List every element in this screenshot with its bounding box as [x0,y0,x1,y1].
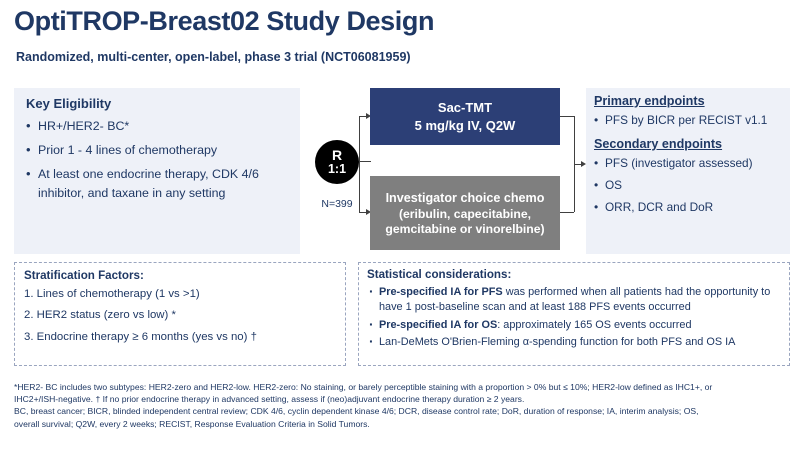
list-item: 1. Lines of chemotherapy (1 vs >1) [24,287,337,301]
primary-endpoints-list: PFS by BICR per RECIST v1.1 [594,113,784,129]
control-arm-options-2: gemcitabine or vinorelbine) [385,222,544,236]
secondary-endpoints-list: PFS (investigator assessed) OS ORR, DCR … [594,156,784,216]
list-item: Pre-specified IA for PFS was performed w… [367,285,781,316]
list-item: ORR, DCR and DoR [594,200,784,216]
statistics-item-text: : approximately 165 OS events occurred [497,319,691,331]
randomization-ratio: 1:1 [328,163,346,176]
experimental-arm-dose: 5 mg/kg IV, Q2W [415,118,516,133]
stratification-factors-box: Stratification Factors: 1. Lines of chem… [14,262,346,366]
randomization-node: R 1:1 [315,140,359,184]
experimental-arm-box: Sac-TMT 5 mg/kg IV, Q2W [370,88,560,145]
control-arm-title: Investigator choice chemo [386,191,545,205]
list-item: Pre-specified IA for OS: approximately 1… [367,318,781,333]
secondary-endpoints-heading: Secondary endpoints [594,137,784,151]
list-item: OS [594,178,784,194]
statistics-heading: Statistical considerations: [367,268,781,281]
list-item: PFS by BICR per RECIST v1.1 [594,113,784,129]
endpoints-panel: Primary endpoints PFS by BICR per RECIST… [586,88,790,254]
list-item: At least one endocrine therapy, CDK 4/6 … [26,165,290,203]
statistics-item-text: Lan-DeMets O'Brien-Fleming α-spending fu… [379,336,735,348]
slide-canvas: OptiTROP-Breast02 Study Design Randomize… [0,0,800,449]
randomization-label: R [332,148,342,163]
control-arm-options-1: (eribulin, capecitabine, [399,207,531,221]
primary-endpoints-heading: Primary endpoints [594,94,784,108]
connector-merge-top [560,116,574,117]
statistics-item-emphasis: Pre-specified IA for PFS [379,286,503,298]
footnotes: *HER2- BC includes two subtypes: HER2-ze… [14,381,790,430]
enrollment-count: N=399 [315,198,359,210]
page-title: OptiTROP-Breast02 Study Design [14,6,434,37]
list-item: HR+/HER2- BC* [26,117,290,136]
connector-split-bar [359,116,360,212]
list-item: Lan-DeMets O'Brien-Fleming α-spending fu… [367,335,781,350]
footnote-line: *HER2- BC includes two subtypes: HER2-ze… [14,381,790,393]
connector-merge-bottom [560,212,574,213]
key-eligibility-list: HR+/HER2- BC* Prior 1 - 4 lines of chemo… [26,117,290,202]
list-item: PFS (investigator assessed) [594,156,784,172]
statistics-list: Pre-specified IA for PFS was performed w… [367,285,781,351]
statistics-item-emphasis: Pre-specified IA for OS [379,319,497,331]
stratification-heading: Stratification Factors: [24,269,337,282]
list-item: Prior 1 - 4 lines of chemotherapy [26,141,290,160]
connector-stem-left [359,161,371,162]
list-item: 3. Endocrine therapy ≥ 6 months (yes vs … [24,330,337,344]
key-eligibility-panel: Key Eligibility HR+/HER2- BC* Prior 1 - … [14,88,300,254]
list-item: 2. HER2 status (zero vs low) * [24,308,337,322]
footnote-line: BC, breast cancer; BICR, blinded indepen… [14,405,790,417]
page-subtitle: Randomized, multi-center, open-label, ph… [16,50,411,64]
control-arm-box: Investigator choice chemo (eribulin, cap… [370,176,560,250]
experimental-arm-drug: Sac-TMT [438,100,492,115]
footnote-line: overall survival; Q2W, every 2 weeks; RE… [14,418,790,430]
footnote-line: IHC2+/ISH-negative. † If no prior endocr… [14,393,790,405]
key-eligibility-heading: Key Eligibility [26,96,290,111]
statistical-considerations-box: Statistical considerations: Pre-specifie… [358,262,790,366]
